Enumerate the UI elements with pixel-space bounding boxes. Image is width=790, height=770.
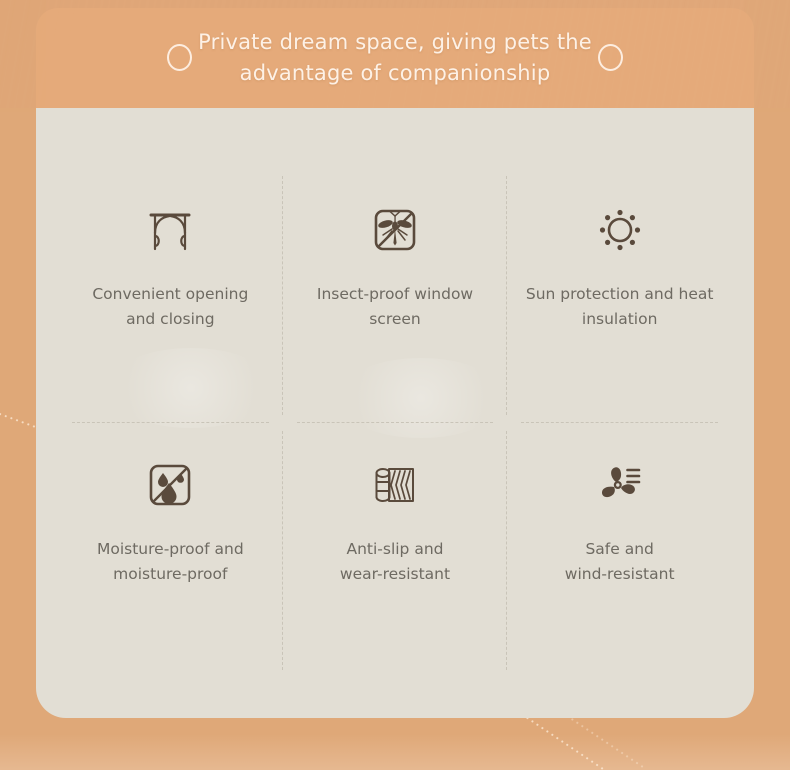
feature-label: Insect-proof window screen <box>317 282 473 332</box>
feature-label-line-2: wind-resistant <box>565 562 675 587</box>
feature-item-convenient-opening[interactable]: Convenient opening and closing <box>58 168 283 423</box>
fan-propeller-icon <box>592 457 648 513</box>
feature-item-sun-protection[interactable]: Sun protection and heat insulation <box>507 168 732 423</box>
page-title: Private dream space, giving pets the adv… <box>185 27 605 89</box>
feature-item-moisture-proof[interactable]: Moisture-proof and moisture-proof <box>58 423 283 678</box>
feature-label: Sun protection and heat insulation <box>526 282 714 332</box>
sun-icon <box>592 202 648 258</box>
feature-label-line-1: Sun protection and heat <box>526 282 714 307</box>
circle-outline-icon-right <box>598 44 623 71</box>
feature-label: Safe and wind-resistant <box>565 537 675 587</box>
circle-outline-icon-left <box>167 44 192 71</box>
no-water-drop-icon <box>142 457 198 513</box>
anti-slip-mat-icon <box>367 457 423 513</box>
feature-card: Convenient opening and closing <box>36 108 754 718</box>
feature-label-line-2: screen <box>317 307 473 332</box>
bottom-light-wash <box>0 734 790 770</box>
page-title-line-1: Private dream space, giving pets the <box>185 27 605 58</box>
no-mosquito-icon <box>367 202 423 258</box>
feature-label: Anti-slip and wear-resistant <box>340 537 450 587</box>
feature-item-anti-slip[interactable]: Anti-slip and wear-resistant <box>283 423 508 678</box>
feature-label-line-1: Safe and <box>565 537 675 562</box>
feature-label-line-2: insulation <box>526 307 714 332</box>
page-title-line-2: advantage of companionship <box>185 58 605 89</box>
feature-label-line-2: moisture-proof <box>97 562 244 587</box>
feature-label: Convenient opening and closing <box>92 282 248 332</box>
feature-label: Moisture-proof and moisture-proof <box>97 537 244 587</box>
curtain-icon <box>142 202 198 258</box>
feature-label-line-1: Moisture-proof and <box>97 537 244 562</box>
header-banner: Private dream space, giving pets the adv… <box>36 8 754 108</box>
feature-label-line-1: Convenient opening <box>92 282 248 307</box>
feature-label-line-1: Insect-proof window <box>317 282 473 307</box>
feature-label-line-2: and closing <box>92 307 248 332</box>
feature-label-line-1: Anti-slip and <box>340 537 450 562</box>
feature-grid: Convenient opening and closing <box>58 168 732 678</box>
feature-item-insect-proof[interactable]: Insect-proof window screen <box>283 168 508 423</box>
feature-label-line-2: wear-resistant <box>340 562 450 587</box>
feature-item-wind-resistant[interactable]: Safe and wind-resistant <box>507 423 732 678</box>
